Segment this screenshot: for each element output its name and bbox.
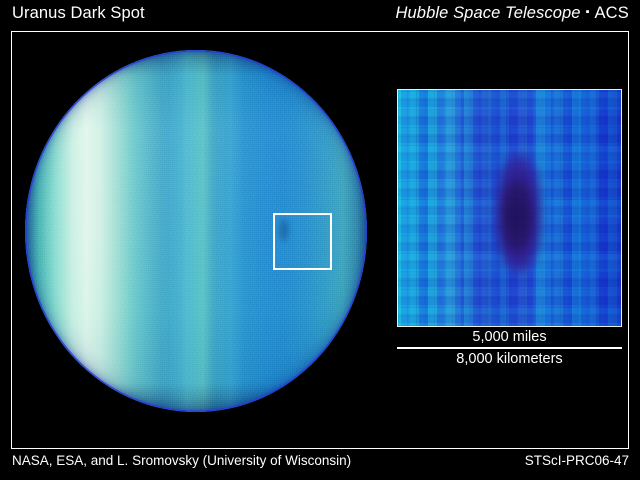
detector-name: ACS <box>594 4 629 23</box>
scale-kilometers-label: 8,000 kilometers <box>397 350 622 368</box>
inset-pixel-grid <box>398 90 621 326</box>
dark-spot-inset <box>397 89 622 327</box>
instrument-name: Hubble Space Telescope <box>396 4 581 23</box>
image-frame-inner: 5,000 miles 8,000 kilometers <box>12 32 628 448</box>
credit-line: NASA, ESA, and L. Sromovsky (University … <box>12 453 351 468</box>
scale-bar: 5,000 miles 8,000 kilometers <box>397 328 622 368</box>
image-frame: 5,000 miles 8,000 kilometers <box>11 31 629 449</box>
square-bullet-icon: ▪ <box>586 7 590 18</box>
page-title: Uranus Dark Spot <box>12 4 145 23</box>
scale-miles-label: 5,000 miles <box>397 328 622 346</box>
scale-rule <box>397 347 622 349</box>
dark-spot-selection-box <box>273 213 332 270</box>
image-canvas: Uranus Dark Spot Hubble Space Telescope … <box>0 0 640 480</box>
inset-frame <box>397 89 622 327</box>
telescope-credit: Hubble Space Telescope ▪ ACS <box>396 4 630 23</box>
uranus-planet-image <box>25 50 367 412</box>
release-id: STScI-PRC06-47 <box>525 453 629 468</box>
